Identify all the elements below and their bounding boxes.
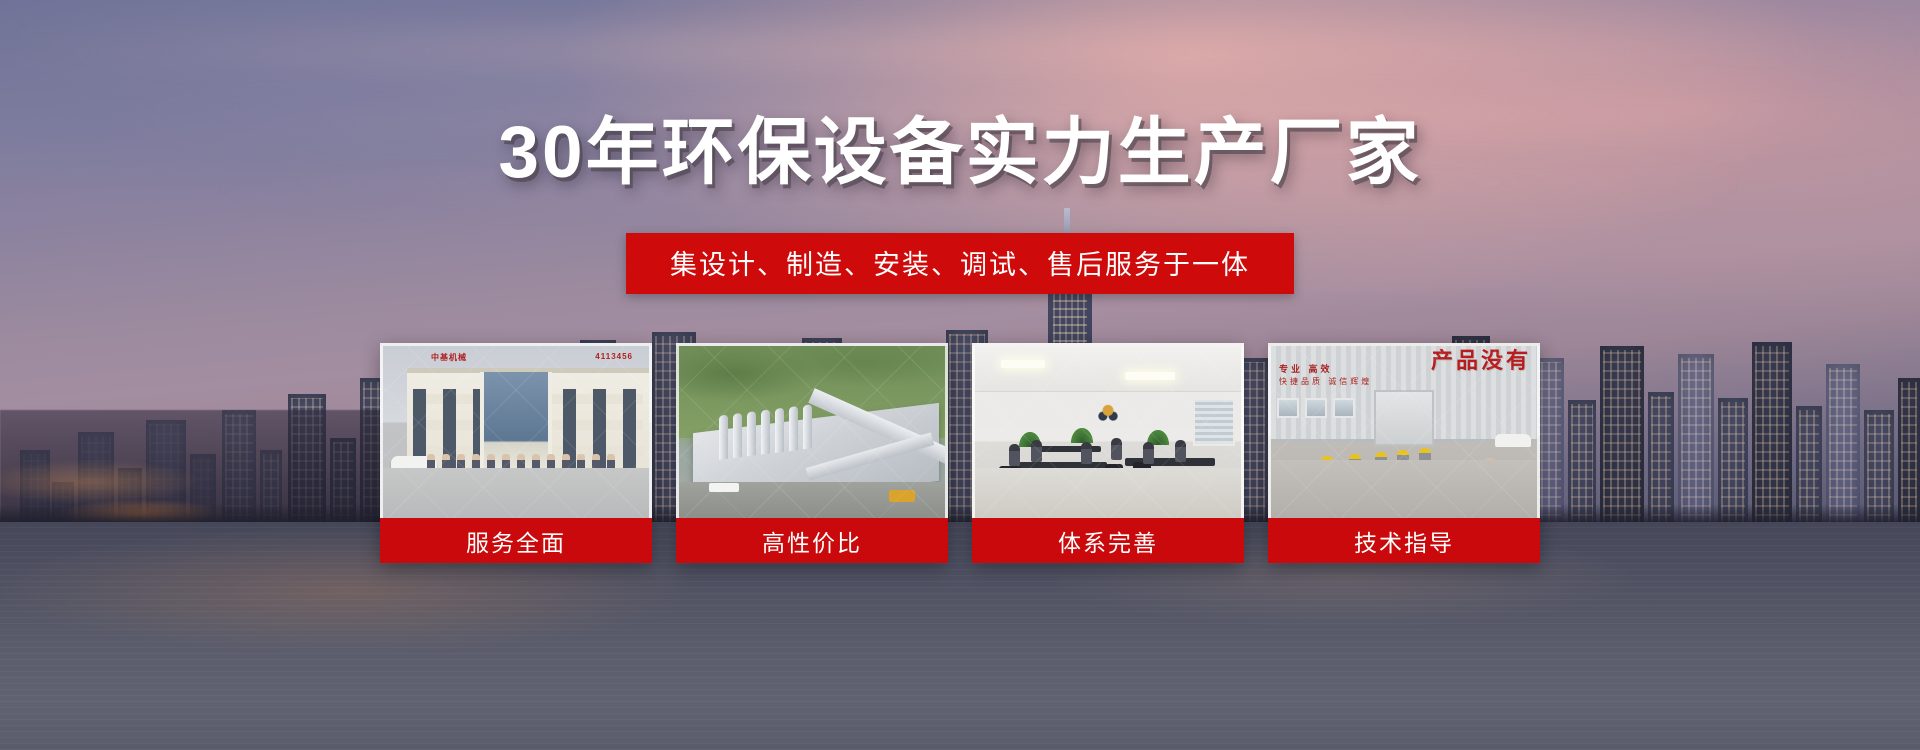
subtitle-bar: 集设计、制造、安装、调试、售后服务于一体 (626, 233, 1294, 294)
building-sign-text: 中基机械 (431, 352, 467, 363)
feature-card-list: 中基机械 4113456 服务全面 高性价比 (380, 343, 1540, 563)
card-caption: 服务全面 (380, 518, 652, 563)
card-photo-office-interior (972, 343, 1244, 518)
card-photo-factory-training: 产品没有 专业 高效 快捷品质 诚信辉煌 (1268, 343, 1540, 518)
card-photo-aerial-plant (676, 343, 948, 518)
card-caption: 技术指导 (1268, 518, 1540, 563)
factory-slogan-primary: 专业 高效 (1279, 362, 1333, 375)
factory-slogan-secondary: 快捷品质 诚信辉煌 (1279, 376, 1372, 387)
card-photo-office-building: 中基机械 4113456 (380, 343, 652, 518)
building-phone-text: 4113456 (595, 352, 633, 361)
hero-banner: 30年环保设备实力生产厂家 集设计、制造、安装、调试、售后服务于一体 中基机械 … (0, 0, 1920, 750)
card-caption: 体系完善 (972, 518, 1244, 563)
feature-card[interactable]: 高性价比 (676, 343, 948, 563)
page-title: 30年环保设备实力生产厂家 (0, 116, 1920, 189)
card-caption: 高性价比 (676, 518, 948, 563)
feature-card[interactable]: 中基机械 4113456 服务全面 (380, 343, 652, 563)
feature-card[interactable]: 产品没有 专业 高效 快捷品质 诚信辉煌 技术指导 (1268, 343, 1540, 563)
feature-card[interactable]: 体系完善 (972, 343, 1244, 563)
factory-banner-text: 产品没有 (1431, 350, 1531, 372)
subtitle-bar-wrapper: 集设计、制造、安装、调试、售后服务于一体 (0, 233, 1920, 294)
